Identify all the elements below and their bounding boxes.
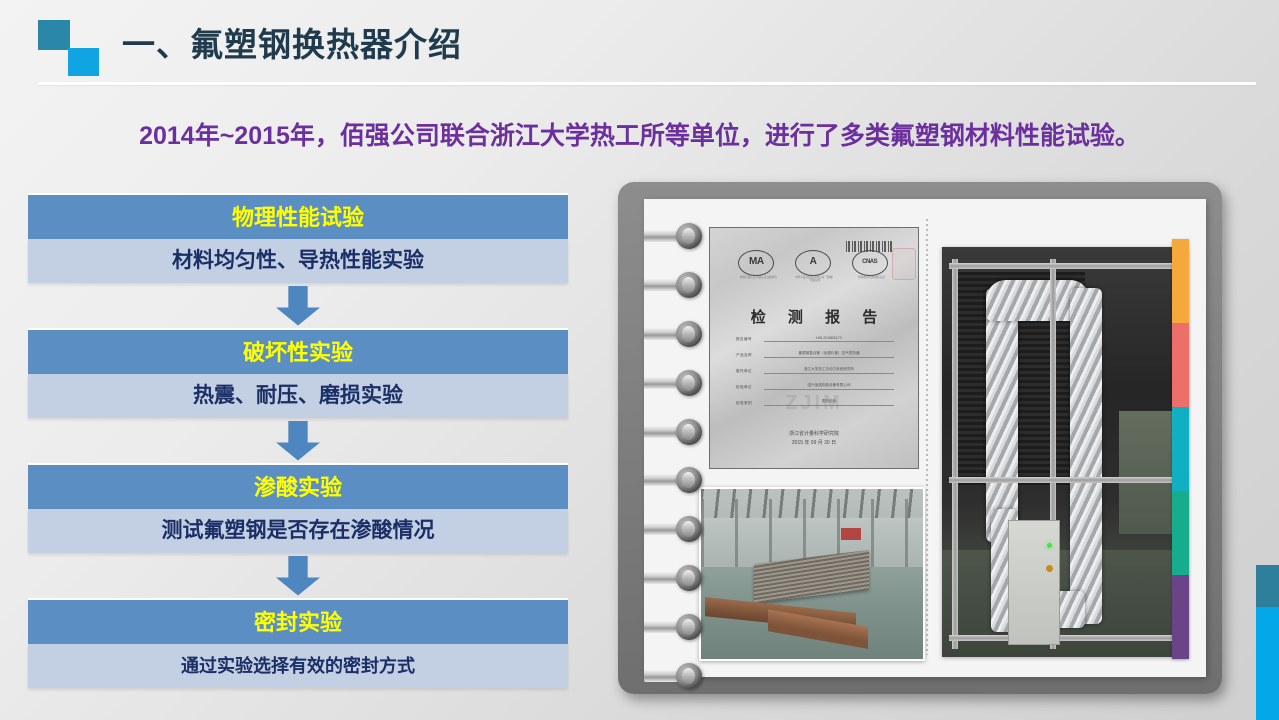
color-strip	[1172, 239, 1189, 659]
test-report-document-photo: MA 中国计量认证 计量认证合格单位 A 中华人民共和国 审查认可（验收）合格证…	[709, 227, 919, 469]
color-band-purple	[1172, 575, 1189, 659]
cma-mark-icon: MA	[738, 250, 774, 276]
color-band-salmon	[1172, 323, 1189, 407]
flow-block-3-desc: 测试氟塑钢是否存在渗酸情况	[28, 509, 568, 553]
certification-marks: MA 中国计量认证 计量认证合格单位 A 中华人民共和国 审查认可（验收）合格证…	[728, 250, 898, 292]
flow-arrow-2	[28, 418, 568, 463]
color-band-green	[1172, 491, 1189, 575]
binder-ring-icon	[644, 419, 708, 445]
arrow-down-icon	[276, 421, 320, 461]
flow-block-4-title: 密封实验	[28, 598, 568, 644]
binder-ring-icon	[644, 565, 708, 591]
control-panel	[1008, 520, 1059, 645]
binder-ring-icon	[644, 467, 708, 493]
flow-arrow-1	[28, 283, 568, 328]
experiment-flow-chart: 物理性能试验 材料均匀性、导热性能实验 破坏性实验 热震、耐压、磨损实验 渗酸实…	[28, 193, 568, 688]
binder-ring-icon	[644, 663, 708, 689]
binder-ring-icon	[644, 223, 708, 249]
decoration-square-dark	[38, 20, 70, 50]
flow-block-2: 破坏性实验 热震、耐压、磨损实验	[28, 328, 568, 418]
document-footer: 浙江省计量科学研究院 2015 年 09 月 30 日	[710, 430, 918, 448]
title-divider-rule	[38, 82, 1256, 85]
cnas-mark-caption: 检验检测 机构资质认定	[852, 276, 892, 279]
flow-block-3: 渗酸实验 测试氟塑钢是否存在渗酸情况	[28, 463, 568, 553]
notebook-panel: MA 中国计量认证 计量认证合格单位 A 中华人民共和国 审查认可（验收）合格证…	[618, 182, 1222, 694]
flow-block-1-title: 物理性能试验	[28, 193, 568, 239]
flow-block-4: 密封实验 通过实验选择有效的密封方式	[28, 598, 568, 688]
color-band-cyan	[1172, 407, 1189, 491]
arrow-down-icon	[276, 286, 320, 326]
document-row-label: 产品名称	[736, 353, 764, 358]
document-row: 报告编号 HW-2015B0173	[736, 336, 894, 342]
cma-mark-caption: 中国计量认证 计量认证合格单位	[738, 276, 778, 279]
binder-ring-icon	[644, 272, 708, 298]
document-row-value: HW-2015B0173	[764, 336, 894, 342]
notebook-page: MA 中国计量认证 计量认证合格单位 A 中华人民共和国 审查认可（验收）合格证…	[644, 199, 1206, 677]
page-title: 一、氟塑钢换热器介绍	[122, 18, 462, 66]
document-row: 委托单位 浙江大学热工与动力系统研究所	[736, 367, 894, 374]
slide-root: 一、氟塑钢换热器介绍 2014年~2015年，佰强公司联合浙江大学热工所等单位，…	[0, 0, 1279, 720]
factory-tube-bundle-photo	[699, 487, 925, 661]
title-decoration	[38, 20, 112, 74]
document-row-label: 报告编号	[736, 337, 764, 342]
edge-accent-square-bright	[1256, 607, 1279, 720]
cal-mark-icon: A	[795, 250, 831, 276]
flow-arrow-3	[28, 553, 568, 598]
document-watermark: ZJIM	[710, 392, 918, 415]
slide-subtitle: 2014年~2015年，佰强公司联合浙江大学热工所等单位，进行了多类氟塑钢材料性…	[0, 116, 1279, 152]
document-footer-date: 2015 年 09 月 30 日	[710, 439, 918, 448]
spiral-binding	[644, 223, 708, 689]
binder-ring-icon	[644, 516, 708, 542]
flow-block-2-title: 破坏性实验	[28, 328, 568, 374]
arrow-down-icon	[276, 556, 320, 596]
status-led-icon	[1047, 543, 1052, 548]
color-band-orange	[1172, 239, 1189, 323]
document-footer-org: 浙江省计量科学研究院	[710, 430, 918, 439]
flow-block-1-desc: 材料均匀性、导热性能实验	[28, 239, 568, 283]
emergency-knob-icon	[1046, 565, 1053, 572]
document-row-label: 检验单位	[736, 385, 764, 390]
decoration-square-bright	[68, 48, 99, 76]
document-title: 检 测 报 告	[710, 306, 918, 327]
document-row-label: 委托单位	[736, 369, 764, 374]
test-rig-photo	[942, 247, 1188, 657]
binder-ring-icon	[644, 321, 708, 347]
binder-ring-icon	[644, 614, 708, 640]
cal-mark-caption: 中华人民共和国 审查认可（验收）合格证书	[795, 276, 835, 283]
edge-accent-square-dark	[1256, 565, 1279, 607]
binder-ring-icon	[644, 370, 708, 396]
flow-block-4-desc: 通过实验选择有效的密封方式	[28, 644, 568, 688]
document-row-value: 氟塑钢复合管（含翅片管）空气预热器	[764, 351, 894, 358]
document-row-value: 绍兴佰强热能设备有限公司	[764, 383, 894, 390]
document-row-value: 浙江大学热工与动力系统研究所	[764, 367, 894, 374]
page-divider	[926, 219, 928, 655]
document-row: 检验单位 绍兴佰强热能设备有限公司	[736, 383, 894, 390]
flow-block-3-title: 渗酸实验	[28, 463, 568, 509]
flow-block-1: 物理性能试验 材料均匀性、导热性能实验	[28, 193, 568, 283]
flow-block-2-desc: 热震、耐压、磨损实验	[28, 374, 568, 418]
cnas-mark-icon: CNAS	[852, 250, 888, 276]
document-row: 产品名称 氟塑钢复合管（含翅片管）空气预热器	[736, 351, 894, 358]
